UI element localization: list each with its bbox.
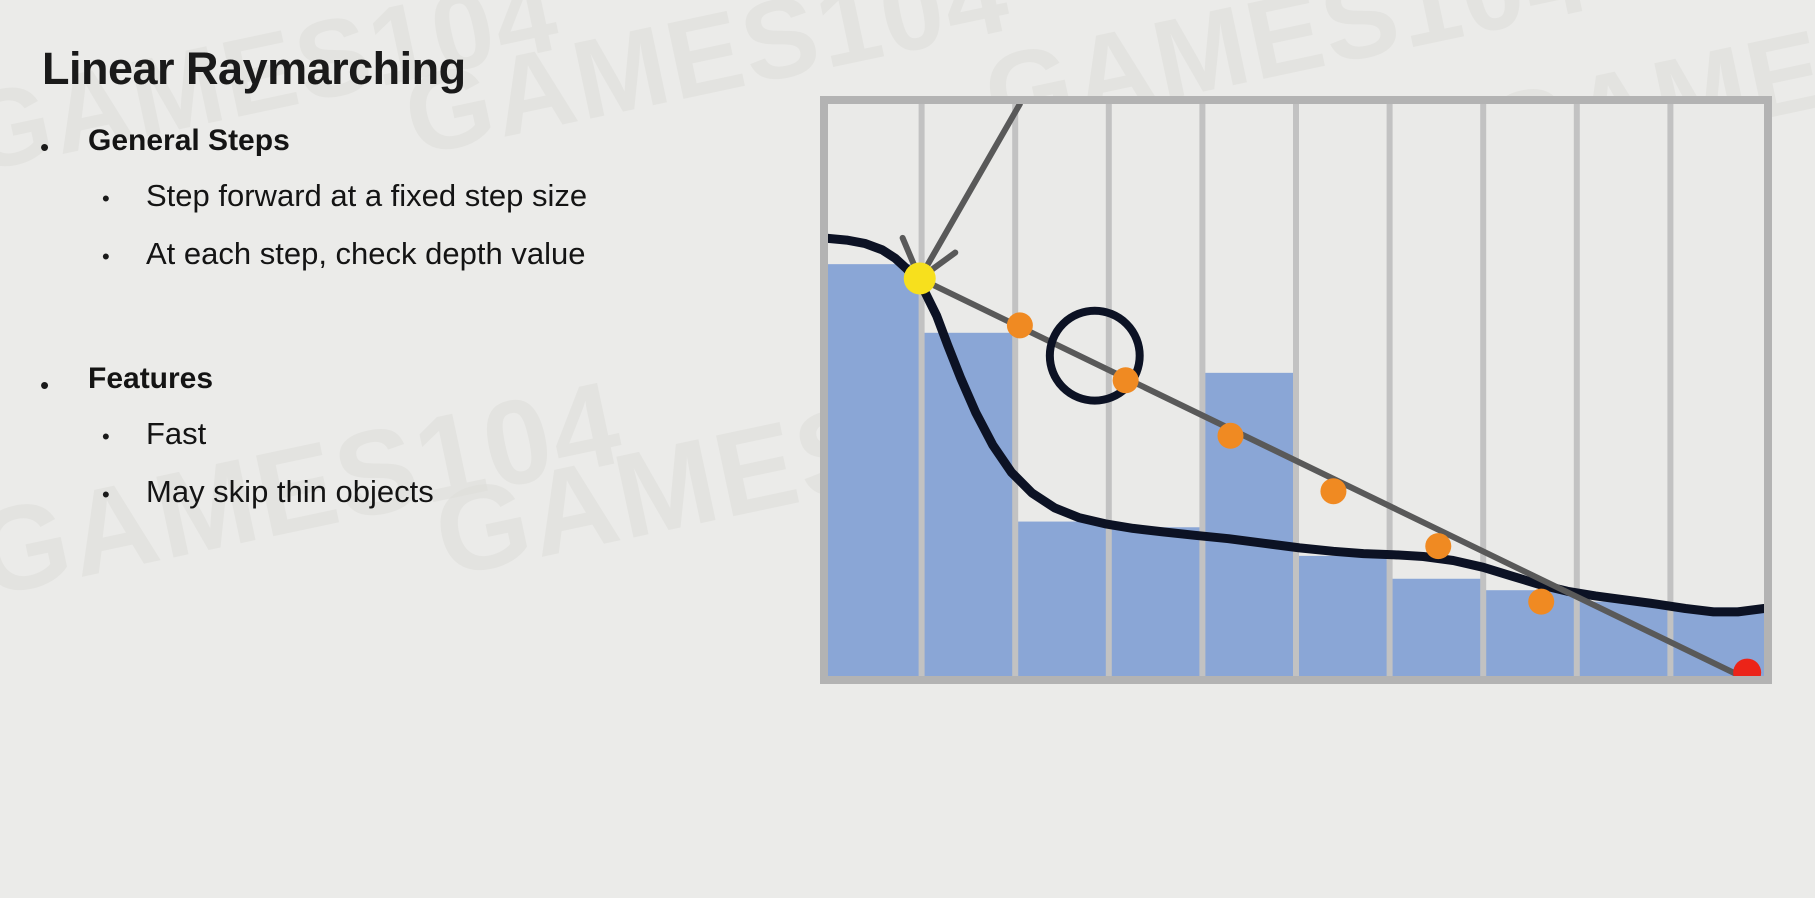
bullet-label: General Steps xyxy=(88,124,290,158)
step-marker-dot xyxy=(1320,478,1346,504)
bullet-glyph-icon: • xyxy=(102,236,146,268)
depth-bar xyxy=(1577,602,1671,676)
ray-origin-dot xyxy=(904,262,936,294)
step-marker-dot xyxy=(1528,589,1554,615)
bullet-label: May skip thin objects xyxy=(146,474,434,510)
depth-bar xyxy=(1202,373,1296,676)
slide-canvas: Linear Raymarching • General Steps • Ste… xyxy=(0,0,1815,898)
depth-bar xyxy=(1015,522,1109,676)
raymarching-diagram-svg xyxy=(820,96,1772,684)
raymarching-diagram xyxy=(820,96,1772,684)
bullet-glyph-icon: • xyxy=(102,416,146,448)
bullet-item-may-skip-thin-objects: • May skip thin objects xyxy=(102,474,700,510)
depth-bar xyxy=(922,333,1016,676)
bullet-item-check-depth: • At each step, check depth value xyxy=(102,236,700,272)
bullet-label: Features xyxy=(88,362,213,396)
bullet-glyph-icon: • xyxy=(40,124,88,160)
depth-bar xyxy=(1390,579,1484,676)
depth-bar xyxy=(828,264,922,676)
step-marker-dot xyxy=(1007,312,1033,338)
step-marker-dot xyxy=(1217,423,1243,449)
bullet-glyph-icon: • xyxy=(40,362,88,398)
depth-bar xyxy=(1109,527,1203,676)
depth-bar xyxy=(1296,556,1390,676)
step-marker-dot xyxy=(1425,533,1451,559)
page-title: Linear Raymarching xyxy=(42,44,466,94)
bullet-item-general-steps: • General Steps xyxy=(40,124,700,160)
bullet-label: Fast xyxy=(146,416,206,452)
bullet-glyph-icon: • xyxy=(102,178,146,210)
bullet-group-spacer xyxy=(40,294,700,356)
bullet-item-step-forward: • Step forward at a fixed step size xyxy=(102,178,700,214)
step-marker-dot xyxy=(1113,367,1139,393)
bullet-list: • General Steps • Step forward at a fixe… xyxy=(40,118,700,532)
bullet-item-fast: • Fast xyxy=(102,416,700,452)
bullet-label: Step forward at a fixed step size xyxy=(146,178,587,214)
bullet-item-features: • Features xyxy=(40,362,700,398)
bullet-glyph-icon: • xyxy=(102,474,146,506)
bullet-label: At each step, check depth value xyxy=(146,236,585,272)
